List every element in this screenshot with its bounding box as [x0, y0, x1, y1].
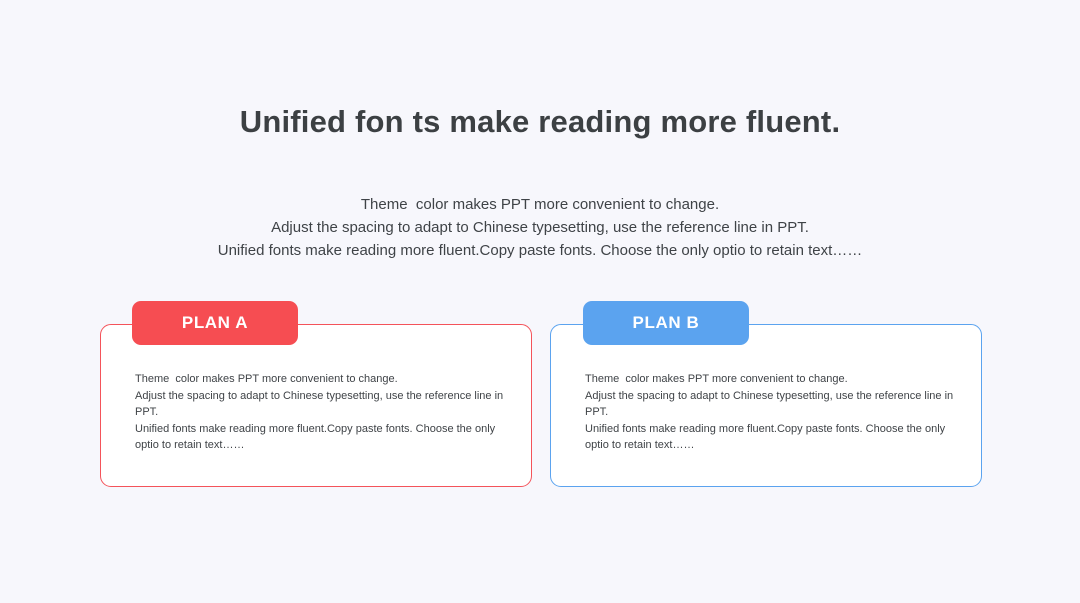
plan-a-body-line-1: Theme color makes PPT more convenient to… — [135, 371, 509, 388]
plan-a-body: Theme color makes PPT more convenient to… — [135, 371, 509, 454]
plan-b-body-line-2: Adjust the spacing to adapt to Chinese t… — [585, 388, 959, 421]
subtitle-line-3: Unified fonts make reading more fluent.C… — [0, 239, 1080, 262]
plan-b-body-line-3: Unified fonts make reading more fluent.C… — [585, 421, 959, 454]
plan-a-body-line-2: Adjust the spacing to adapt to Chinese t… — [135, 388, 509, 421]
plan-b-body: Theme color makes PPT more convenient to… — [585, 371, 959, 454]
plan-a-body-line-3: Unified fonts make reading more fluent.C… — [135, 421, 509, 454]
subtitle-line-2: Adjust the spacing to adapt to Chinese t… — [0, 216, 1080, 239]
page-title: Unified fon ts make reading more fluent. — [0, 104, 1080, 140]
subtitle-block: Theme color makes PPT more convenient to… — [0, 193, 1080, 262]
slide-canvas: Unified fon ts make reading more fluent.… — [0, 0, 1080, 603]
plan-a-badge[interactable]: PLAN A — [132, 301, 298, 345]
plan-b-body-line-1: Theme color makes PPT more convenient to… — [585, 371, 959, 388]
plan-a-card[interactable]: Theme color makes PPT more convenient to… — [100, 324, 532, 487]
subtitle-line-1: Theme color makes PPT more convenient to… — [0, 193, 1080, 216]
plan-b-badge[interactable]: PLAN B — [583, 301, 749, 345]
plan-b-card[interactable]: Theme color makes PPT more convenient to… — [550, 324, 982, 487]
